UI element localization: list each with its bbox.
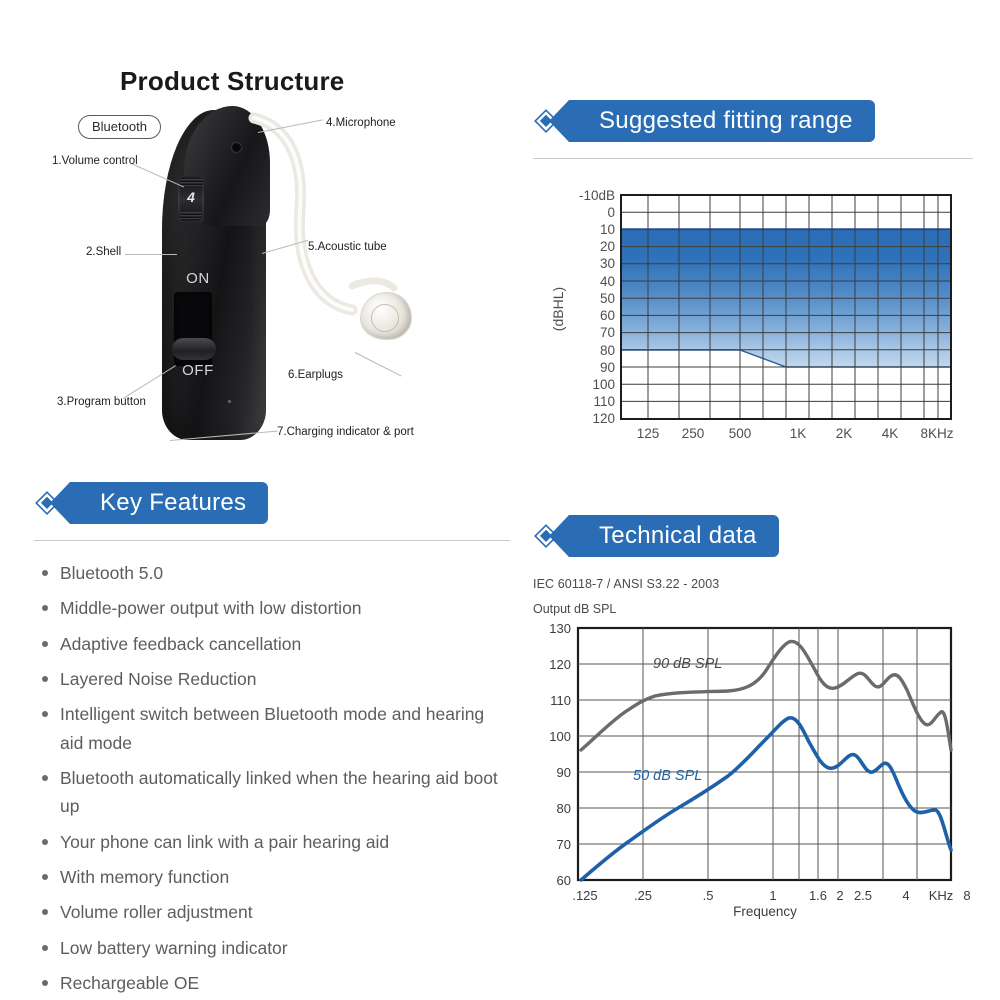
callout-shell: 2.Shell <box>86 246 121 258</box>
list-item: Low battery warning indicator <box>34 934 510 962</box>
svg-text:10: 10 <box>600 222 615 237</box>
svg-text:100: 100 <box>549 729 571 744</box>
svg-text:2K: 2K <box>836 426 853 441</box>
svg-text:120: 120 <box>592 411 615 426</box>
infographic-page: Product Structure Bluetooth 4 ON OFF <box>0 0 1000 1000</box>
svg-text:80: 80 <box>557 801 571 816</box>
spl-x-ticks: .125 .25 .5 1 1.6 2 2.5 4 KHz 8 <box>572 888 970 903</box>
list-item: Volume roller adjustment <box>34 898 510 926</box>
fitting-divider <box>533 158 973 159</box>
callout-microphone: 4.Microphone <box>326 117 396 129</box>
output-axis-label: Output dB SPL <box>533 602 973 616</box>
svg-text:.5: .5 <box>703 888 714 903</box>
svg-text:120: 120 <box>549 657 571 672</box>
leader-line-shell <box>125 254 177 255</box>
svg-text:4K: 4K <box>882 426 899 441</box>
svg-text:130: 130 <box>549 621 571 636</box>
program-switch-knob <box>172 338 216 360</box>
acoustic-tube-illustration <box>248 110 423 360</box>
earplug <box>360 292 412 340</box>
svg-text:60: 60 <box>557 873 571 888</box>
svg-text:70: 70 <box>557 837 571 852</box>
annotation-90db: 90 dB SPL <box>653 656 722 672</box>
features-divider <box>34 540 510 541</box>
list-item: With memory function <box>34 863 510 891</box>
svg-text:0: 0 <box>607 205 615 220</box>
svg-text:125: 125 <box>637 426 660 441</box>
svg-text:8KHz: 8KHz <box>920 426 953 441</box>
features-banner: Key Features <box>70 482 268 524</box>
spl-y-ticks: 130 120 110 100 90 80 70 60 <box>549 621 571 888</box>
svg-text:-10dB: -10dB <box>579 188 615 203</box>
svg-text:90: 90 <box>600 360 615 375</box>
fitting-header: Suggested fitting range <box>533 100 973 142</box>
callout-charging-port: 7.Charging indicator & port <box>277 426 414 438</box>
svg-text:20: 20 <box>600 239 615 254</box>
key-features-section: Key Features Bluetooth 5.0 Middle-power … <box>34 482 510 1000</box>
standard-label: IEC 60118-7 / ANSI S3.22 - 2003 <box>533 577 973 591</box>
technical-header: Technical data <box>533 515 973 557</box>
svg-text:70: 70 <box>600 325 615 340</box>
svg-text:500: 500 <box>729 426 752 441</box>
output-spl-chart: 130 120 110 100 90 80 70 60 <box>533 620 973 920</box>
svg-text:110: 110 <box>593 394 615 409</box>
svg-text:KHz: KHz <box>929 888 954 903</box>
list-item: Layered Noise Reduction <box>34 665 510 693</box>
callout-earplugs: 6.Earplugs <box>288 369 343 381</box>
svg-text:100: 100 <box>592 377 615 392</box>
svg-text:110: 110 <box>550 693 571 708</box>
svg-text:2: 2 <box>836 888 843 903</box>
svg-text:2.5: 2.5 <box>854 888 872 903</box>
svg-text:50: 50 <box>600 291 615 306</box>
svg-text:30: 30 <box>600 256 615 271</box>
audiogram-svg: -10dB 0 10 20 30 40 50 60 70 80 90 100 1… <box>533 181 973 443</box>
list-item: Adaptive feedback cancellation <box>34 630 510 658</box>
svg-text:40: 40 <box>600 274 615 289</box>
volume-dial-value: 4 <box>178 189 204 205</box>
svg-text:.25: .25 <box>634 888 652 903</box>
audiogram-chart: -10dB 0 10 20 30 40 50 60 70 80 90 100 1… <box>533 181 973 443</box>
page-title: Product Structure <box>120 66 344 97</box>
bluetooth-badge: Bluetooth <box>78 115 161 139</box>
svg-text:.125: .125 <box>572 888 597 903</box>
microphone-port <box>232 143 241 152</box>
svg-text:1.6: 1.6 <box>809 888 827 903</box>
audiogram-x-ticks: 125 250 500 1K 2K 4K 8KHz <box>637 426 954 441</box>
switch-on-label: ON <box>168 270 228 287</box>
svg-text:1: 1 <box>769 888 776 903</box>
svg-text:8: 8 <box>963 888 970 903</box>
svg-text:250: 250 <box>682 426 705 441</box>
features-header: Key Features <box>34 482 510 524</box>
list-item: Intelligent switch between Bluetooth mod… <box>34 700 510 757</box>
svg-text:90: 90 <box>557 765 571 780</box>
suggested-fitting-range-section: Suggested fitting range <box>533 100 973 443</box>
svg-text:4: 4 <box>902 888 909 903</box>
callout-program-button: 3.Program button <box>57 396 146 408</box>
spl-x-axis-label: Frequency <box>733 904 797 919</box>
list-item: Bluetooth automatically linked when the … <box>34 764 510 821</box>
audiogram-y-axis-label: (dBHL) <box>550 287 566 331</box>
list-item: Bluetooth 5.0 <box>34 559 510 587</box>
callout-volume-control: 1.Volume control <box>52 155 138 167</box>
product-structure-panel: Product Structure Bluetooth 4 ON OFF <box>0 0 510 470</box>
svg-text:80: 80 <box>600 343 615 358</box>
volume-dial: 4 <box>178 176 204 222</box>
switch-off-label: OFF <box>168 362 228 379</box>
svg-text:1K: 1K <box>790 426 807 441</box>
list-item: Middle-power output with low distortion <box>34 594 510 622</box>
features-list: Bluetooth 5.0 Middle-power output with l… <box>34 559 510 997</box>
output-spl-svg: 130 120 110 100 90 80 70 60 <box>533 620 973 920</box>
callout-acoustic-tube: 5.Acoustic tube <box>308 241 387 253</box>
svg-text:60: 60 <box>600 308 615 323</box>
technical-banner: Technical data <box>569 515 779 557</box>
fitting-banner: Suggested fitting range <box>569 100 875 142</box>
list-item: Rechargeable OE <box>34 969 510 997</box>
audiogram-y-ticks: -10dB 0 10 20 30 40 50 60 70 80 90 100 1… <box>579 188 615 426</box>
annotation-50db: 50 dB SPL <box>633 768 702 784</box>
charging-indicator-dot <box>228 400 231 403</box>
list-item: Your phone can link with a pair hearing … <box>34 828 510 856</box>
technical-data-section: Technical data IEC 60118-7 / ANSI S3.22 … <box>533 515 973 920</box>
